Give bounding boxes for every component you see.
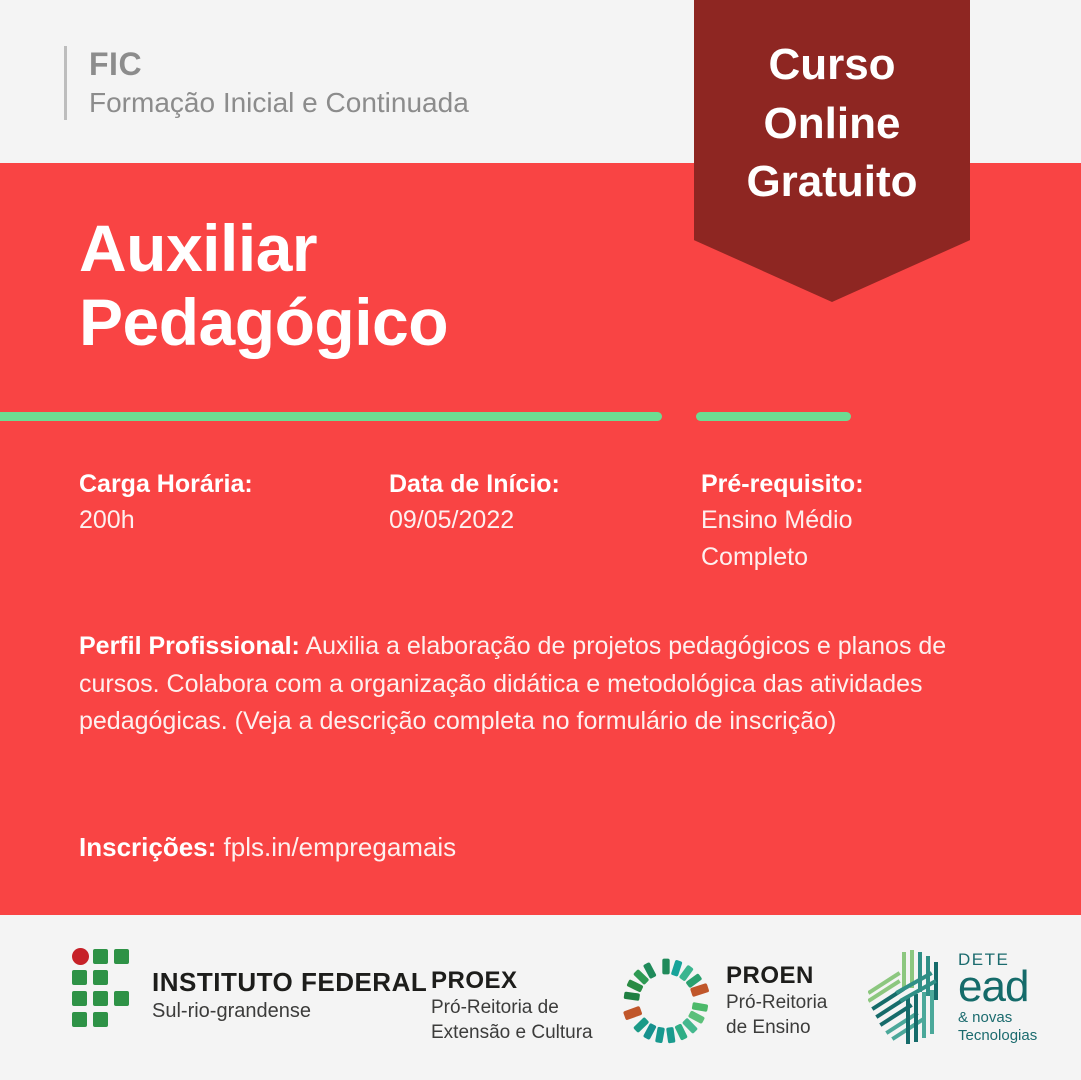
course-title-line-2: Pedagógico [79, 286, 448, 360]
dete-ead-logo: DETE ead & novas Tecnologias [868, 948, 1037, 1048]
ribbon-line-2: Online [764, 95, 901, 154]
start-date-value: 09/05/2022 [389, 502, 560, 538]
course-badge-ribbon: Curso Online Gratuito [694, 0, 970, 302]
if-text-group: INSTITUTO FEDERAL Sul-rio-grandense [152, 968, 427, 1030]
dete-sub-line-2: Tecnologias [958, 1027, 1037, 1045]
header-divider-bar [64, 46, 67, 120]
if-grid-icon [72, 948, 140, 1030]
proen-ring-icon [620, 955, 712, 1047]
proen-logo: PROEN Pró-Reitoria de Ensino [620, 955, 827, 1047]
green-rule-long [0, 412, 662, 421]
proex-sub-line-1: Pró-Reitoria de [431, 995, 593, 1020]
proex-sub-line-2: Extensão e Cultura [431, 1020, 593, 1045]
info-workload: Carga Horária: 200h [79, 466, 253, 539]
registration-label: Inscrições: [79, 832, 216, 862]
prerequisite-label: Pré-requisito: [701, 466, 864, 502]
course-title-line-1: Auxiliar [79, 212, 448, 286]
professional-profile-paragraph: Perfil Profissional: Auxilia a elaboraçã… [79, 628, 1019, 741]
program-abbreviation: FIC [89, 46, 469, 83]
if-red-circle-icon [72, 948, 89, 965]
ribbon-line-1: Curso [768, 36, 895, 95]
info-prerequisite: Pré-requisito: Ensino Médio Completo [701, 466, 864, 575]
dete-sub-line-1: & novas [958, 1009, 1037, 1027]
program-full-name: Formação Inicial e Continuada [89, 85, 469, 120]
course-title: Auxiliar Pedagógico [79, 212, 448, 360]
green-rule-short [696, 412, 851, 421]
info-start-date: Data de Início: 09/05/2022 [389, 466, 560, 539]
workload-value: 200h [79, 502, 253, 538]
if-campus-name: Sul-rio-grandense [152, 999, 427, 1024]
header-brand: FIC Formação Inicial e Continuada [64, 46, 469, 120]
proex-name: PROEX [431, 967, 593, 995]
ribbon-line-3: Gratuito [746, 153, 917, 212]
proen-name: PROEN [726, 962, 827, 990]
dete-main-label: ead [958, 966, 1037, 1008]
professional-profile-label: Perfil Profissional: [79, 632, 300, 660]
prerequisite-value-line-2: Completo [701, 539, 864, 575]
proen-sub-line-2: de Ensino [726, 1015, 827, 1040]
instituto-federal-logo: INSTITUTO FEDERAL Sul-rio-grandense [72, 948, 427, 1030]
proen-text-group: PROEN Pró-Reitoria de Ensino [726, 962, 827, 1040]
registration-line: Inscrições: fpls.in/empregamais [79, 829, 456, 865]
if-institution-name: INSTITUTO FEDERAL [152, 968, 427, 997]
header-text-group: FIC Formação Inicial e Continuada [89, 46, 469, 120]
poster-canvas: FIC Formação Inicial e Continuada Curso … [0, 0, 1081, 1080]
registration-url[interactable]: fpls.in/empregamais [216, 832, 456, 862]
dete-text-group: DETE ead & novas Tecnologias [958, 951, 1037, 1045]
proen-sub-line-1: Pró-Reitoria [726, 990, 827, 1015]
proex-logo: PROEX Pró-Reitoria de Extensão e Cultura [431, 967, 593, 1045]
workload-label: Carga Horária: [79, 466, 253, 502]
prerequisite-value-line-1: Ensino Médio [701, 502, 864, 538]
start-date-label: Data de Início: [389, 466, 560, 502]
dete-weave-icon [868, 948, 954, 1048]
